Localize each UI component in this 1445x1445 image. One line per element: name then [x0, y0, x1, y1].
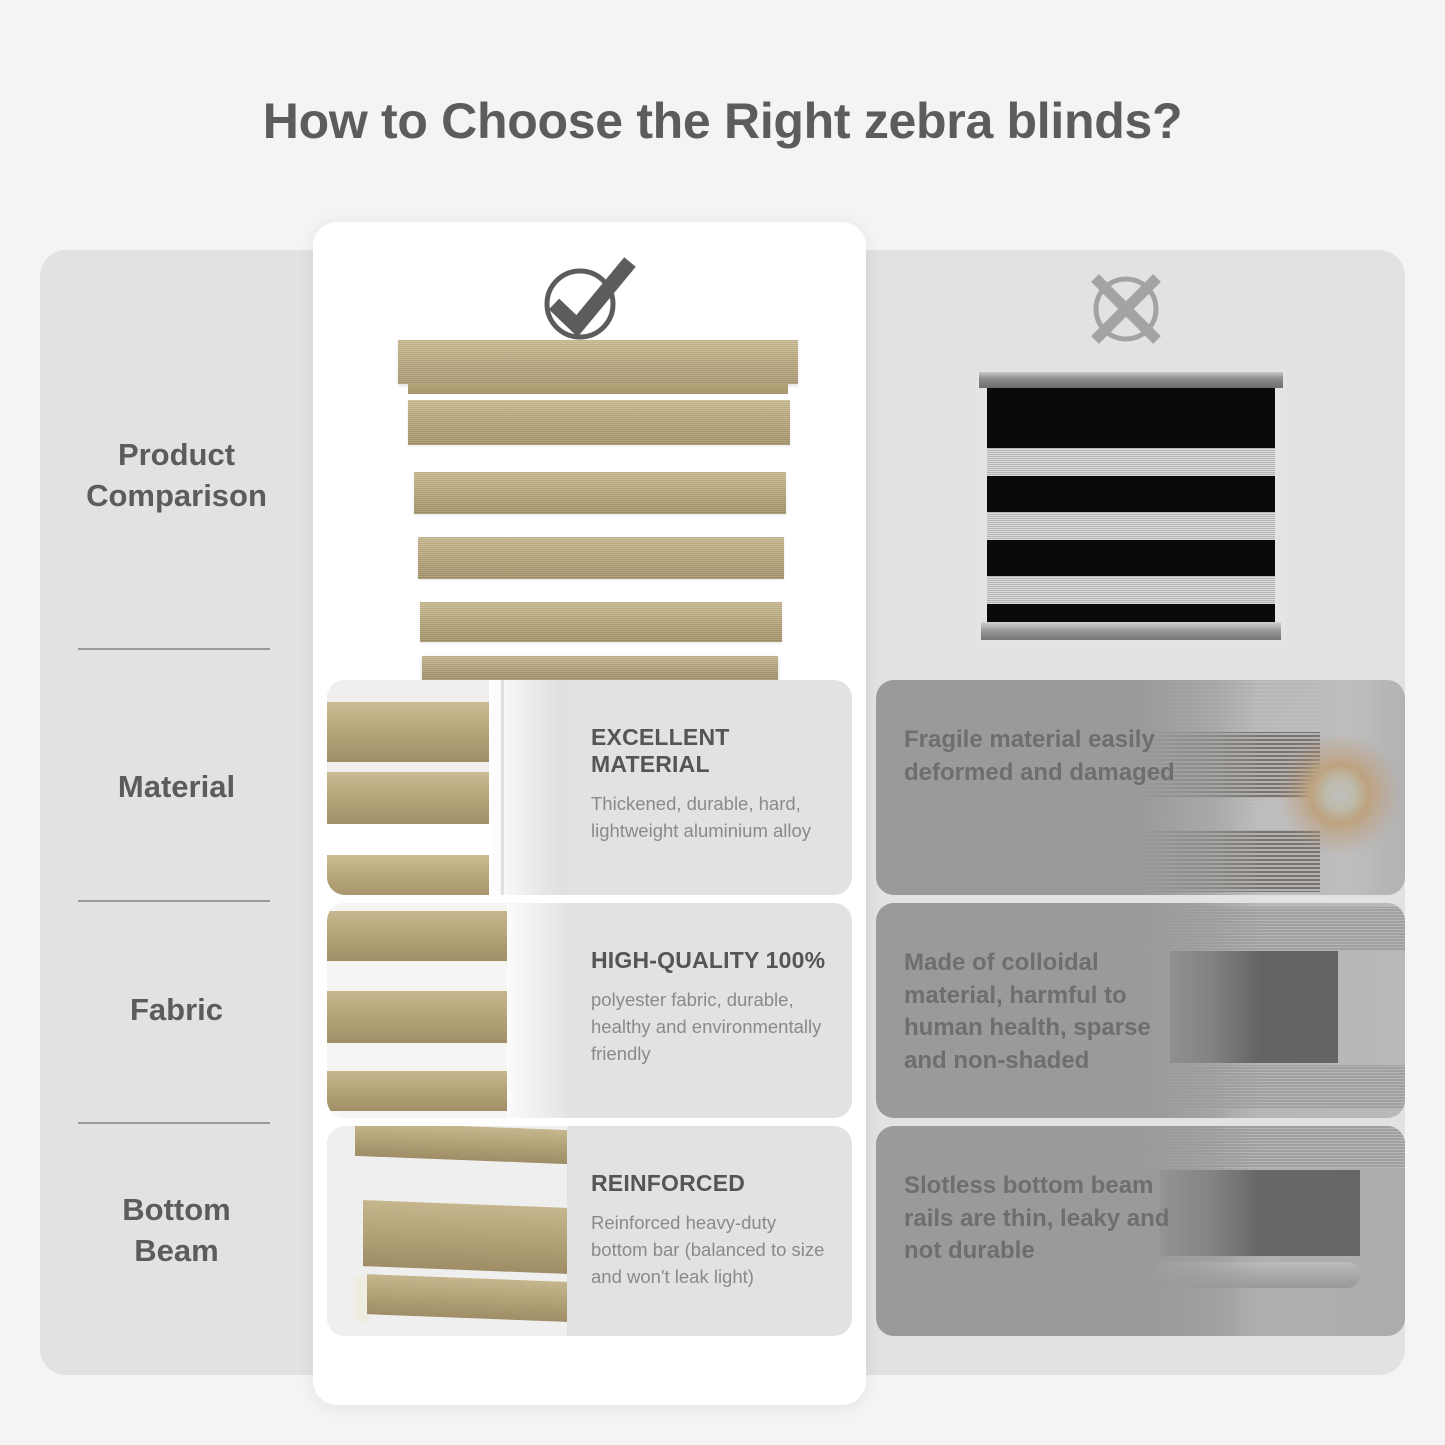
black-zebra-blind-hero-image: [975, 372, 1287, 647]
feature-heading: HIGH-QUALITY 100%: [591, 947, 836, 974]
drawback-card-bottom-beam: Slotless bottom beam rails are thin, lea…: [876, 1126, 1405, 1336]
blind-fabric-body: [987, 388, 1275, 622]
feature-card-material: EXCELLENT MATERIAL Thickened, durable, h…: [327, 680, 852, 895]
tan-blind-bottom-bar-photo: [327, 1126, 567, 1336]
drawback-text: Slotless bottom beam rails are thin, lea…: [904, 1170, 1194, 1268]
page-title: How to Choose the Right zebra blinds?: [0, 92, 1445, 150]
row-divider-1: [78, 648, 270, 650]
feature-heading: EXCELLENT MATERIAL: [591, 724, 836, 778]
tan-zebra-blind-hero-image: [398, 340, 798, 670]
feature-card-fabric: HIGH-QUALITY 100% polyester fabric, dura…: [327, 903, 852, 1118]
blind-bottom-bar: [422, 656, 778, 682]
blind-slat: [420, 602, 782, 642]
blind-bottom-rail: [981, 622, 1281, 640]
row-label-line1: Material: [40, 767, 313, 808]
row-label-line1: Fabric: [40, 990, 313, 1031]
row-divider-2: [78, 900, 270, 902]
blind-headrail: [398, 340, 798, 384]
feature-body: Thickened, durable, hard, lightweight al…: [591, 791, 836, 845]
row-label-fabric: Fabric: [40, 990, 313, 1031]
feature-body: polyester fabric, durable, healthy and e…: [591, 987, 836, 1067]
blind-slat: [418, 537, 784, 579]
row-label-bottom-beam: Bottom Beam: [40, 1190, 313, 1272]
drawback-card-fabric: Made of colloidal material, harmful to h…: [876, 903, 1405, 1118]
drawback-text: Made of colloidal material, harmful to h…: [904, 947, 1194, 1078]
cross-circle-icon: [1085, 268, 1167, 350]
row-label-material: Material: [40, 767, 313, 808]
drawback-text: Fragile material easily deformed and dam…: [904, 724, 1194, 789]
row-label-line2: Comparison: [40, 476, 313, 517]
blind-slat: [414, 472, 786, 514]
row-divider-3: [78, 1122, 270, 1124]
row-label-column: Product Comparison Material Fabric Botto…: [40, 250, 313, 1375]
feature-body: Reinforced heavy-duty bottom bar (balanc…: [591, 1210, 836, 1290]
blind-headrail: [979, 372, 1283, 388]
row-label-product-comparison: Product Comparison: [40, 435, 313, 517]
row-label-line1: Product: [40, 435, 313, 476]
tan-blind-fabric-closeup-photo: [327, 903, 567, 1118]
feature-card-bottom-beam: REINFORCED Reinforced heavy-duty bottom …: [327, 1126, 852, 1336]
feature-heading: REINFORCED: [591, 1170, 836, 1197]
drawback-card-material: Fragile material easily deformed and dam…: [876, 680, 1405, 895]
blind-slat: [408, 400, 790, 445]
tan-blind-material-closeup-photo: [327, 680, 567, 895]
check-circle-icon: [536, 252, 636, 344]
row-label-line2: Beam: [40, 1231, 313, 1272]
row-label-line1: Bottom: [40, 1190, 313, 1231]
